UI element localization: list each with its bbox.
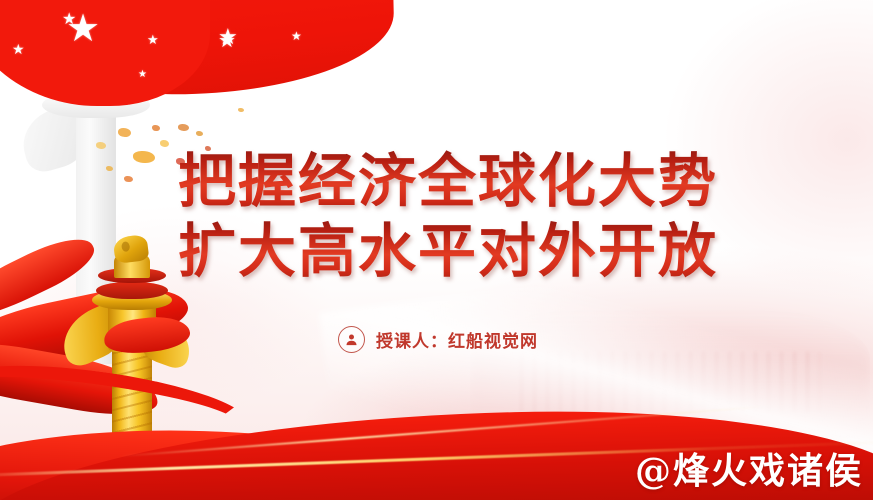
title-line-1: 把握经济全球化大势	[178, 146, 718, 216]
star-icon: ★	[66, 10, 100, 48]
confetti-fleck	[124, 176, 133, 182]
star-icon: ★	[12, 42, 25, 56]
presenter-text: 授课人：红船视觉网	[376, 327, 538, 352]
confetti-fleck	[152, 125, 160, 131]
star-icon: ★	[291, 30, 302, 42]
huabiao-red-ring	[96, 282, 168, 299]
title-line-2: 扩大高水平对外开放	[178, 216, 718, 286]
presenter-line: 授课人：红船视觉网	[338, 326, 538, 353]
confetti-fleck	[106, 166, 113, 171]
star-icon: ★	[218, 31, 236, 51]
confetti-fleck	[178, 124, 189, 131]
star-icon: ★	[138, 70, 147, 80]
confetti-fleck	[118, 128, 131, 137]
confetti-fleck	[238, 108, 244, 112]
title-slide: ★★★★★★★★ 把握经济全球化大势 扩大高水平对外开放	[0, 0, 873, 500]
huabiao-lion-statue	[113, 234, 150, 264]
confetti-fleck	[96, 142, 106, 149]
confetti-fleck	[160, 140, 169, 147]
page-title: 把握经济全球化大势 扩大高水平对外开放	[178, 146, 718, 286]
confetti-fleck	[196, 131, 203, 136]
star-icon: ★	[147, 33, 159, 46]
confetti-fleck	[133, 151, 155, 163]
watermark: @烽火戏诸侯	[635, 442, 863, 494]
user-circle-icon	[338, 326, 365, 353]
